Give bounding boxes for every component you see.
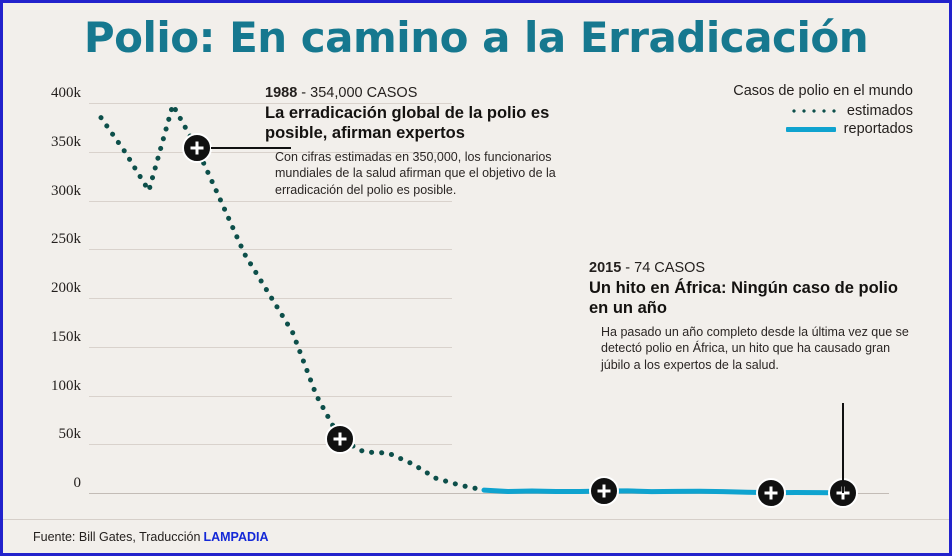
series-reportados-line	[484, 490, 843, 493]
y-tick-label: 150k	[11, 329, 81, 346]
chart-marker-2012[interactable]	[756, 478, 786, 508]
legend-swatch-solid-icon	[786, 127, 836, 132]
annotation-2015-year: 2015	[589, 260, 621, 276]
annotation-1988: 1988 - 354,000 CASOS La erradicación glo…	[265, 85, 595, 199]
annotation-2015: 2015 - 74 CASOS Un hito en África: Ningú…	[589, 260, 919, 374]
y-axis-labels: 050k100k150k200k250k300k350k400k	[3, 103, 81, 493]
annotation-1988-body: Con cifras estimadas en 350,000, los fun…	[275, 149, 595, 200]
chart-marker-1994[interactable]	[325, 424, 355, 454]
legend-item-estimados[interactable]: estimados	[663, 103, 913, 119]
annotation-2015-kicker: 2015 - 74 CASOS	[589, 260, 919, 276]
infographic-root: Polio: En camino a la Erradicación 050k1…	[0, 0, 952, 556]
legend-title: Casos de polio en el mundo	[663, 83, 913, 99]
y-tick-label: 250k	[11, 231, 81, 248]
y-tick-label: 300k	[11, 183, 81, 200]
annotation-1988-year: 1988	[265, 85, 297, 101]
legend-label-estimados: estimados	[847, 103, 913, 119]
y-tick-label: 100k	[11, 378, 81, 395]
annotation-2015-cases: - 74 CASOS	[625, 260, 705, 276]
page-title: Polio: En camino a la Erradicación	[3, 13, 949, 62]
footer-source: Fuente: Bill Gates, Traducción	[33, 530, 200, 544]
annotation-1988-cases: - 354,000 CASOS	[301, 85, 417, 101]
y-tick-label: 200k	[11, 280, 81, 297]
legend-label-reportados: reportados	[844, 121, 913, 137]
y-tick-label: 400k	[11, 85, 81, 102]
chart-legend: Casos de polio en el mundo estimados rep…	[663, 83, 913, 137]
chart-marker-1988[interactable]	[182, 133, 212, 163]
annotation-2015-headline: Un hito en África: Ningún caso de polio …	[589, 279, 919, 319]
footer-brand-lampadia[interactable]: LAMPADIA	[203, 530, 268, 544]
annotation-2015-body: Ha pasado un año completo desde la últim…	[601, 324, 919, 375]
y-tick-label: 350k	[11, 134, 81, 151]
footer: Fuente: Bill Gates, Traducción LAMPADIA	[3, 519, 949, 553]
legend-swatch-dotted-icon	[789, 109, 839, 113]
annotation-1988-headline: La erradicación global de la polio es po…	[265, 104, 595, 144]
y-tick-label: 50k	[11, 426, 81, 443]
leader-line-2015	[842, 403, 844, 493]
y-tick-label: 0	[11, 475, 81, 492]
chart-marker-2005[interactable]	[589, 476, 619, 506]
legend-item-reportados[interactable]: reportados	[663, 121, 913, 137]
annotation-1988-kicker: 1988 - 354,000 CASOS	[265, 85, 595, 101]
